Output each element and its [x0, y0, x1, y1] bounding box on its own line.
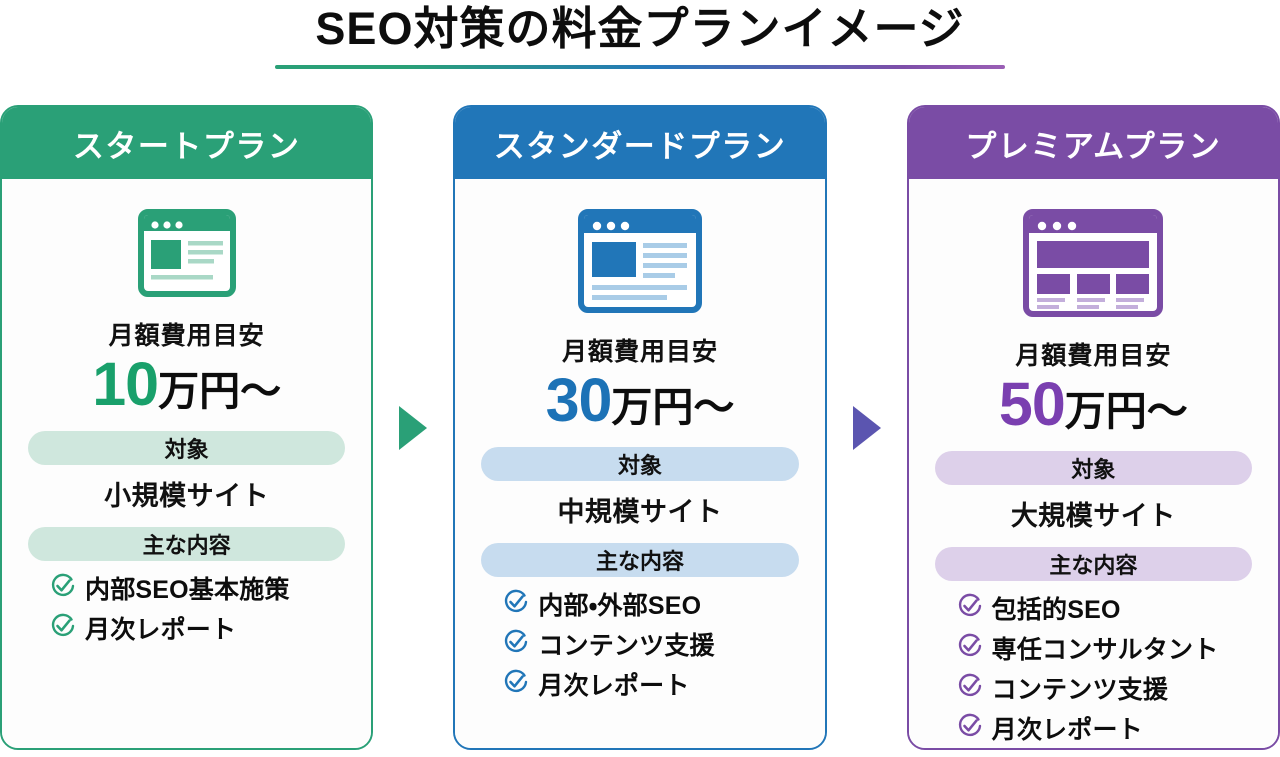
feature-label: 内部・外部SEO [538, 586, 701, 622]
price-unit-standard: 万円〜 [611, 387, 734, 428]
target-pill-standard: 対象 [481, 447, 798, 481]
check-circle-icon [503, 589, 529, 620]
check-circle-icon [957, 633, 983, 664]
list-item: 包括的SEO [957, 590, 1121, 626]
list-item: コンテンツ支援 [957, 670, 1168, 706]
target-value-standard: 中規模サイト [557, 490, 722, 529]
target-pill-premium: 対象 [935, 451, 1252, 485]
price-number-premium: 50 [999, 374, 1065, 435]
feature-list-start: 内部SEO基本施策 月次レポート [28, 570, 345, 650]
plan-header-premium: プレミアムプラン [909, 107, 1278, 179]
check-circle-icon [503, 629, 529, 660]
feature-list-premium: 包括的SEO 専任コンサルタント [935, 590, 1252, 750]
browser-window-article-icon [578, 209, 702, 318]
check-circle-icon [957, 593, 983, 624]
price-unit-premium: 万円〜 [1065, 391, 1188, 432]
price-line-premium: 50 万円〜 [999, 374, 1188, 435]
feature-label: 専任コンサルタント [992, 630, 1219, 666]
check-circle-icon [957, 673, 983, 704]
title-underline-gradient [275, 65, 1005, 69]
page-title: SEO対策の料金プランイメージ [0, 2, 1280, 55]
plan-header-standard: スタンダードプラン [455, 107, 824, 179]
check-circle-icon [50, 573, 76, 604]
browser-window-simple-icon [138, 209, 236, 302]
plan-header-start: スタートプラン [2, 107, 371, 179]
list-item: 専任コンサルタント [957, 630, 1219, 666]
plan-body-premium: 月額費用目安 50 万円〜 対象 大規模サイト 主な内容 包括的SEO [909, 179, 1278, 750]
list-item: 内部SEO基本施策 [50, 570, 290, 606]
price-label-standard: 月額費用目安 [562, 332, 718, 368]
feature-label: 包括的SEO [992, 590, 1121, 626]
price-line-start: 10 万円〜 [92, 354, 281, 415]
arrow-start-to-standard-icon [399, 406, 427, 450]
price-number-standard: 30 [546, 370, 612, 431]
list-item: 月次レポート [50, 610, 236, 646]
list-item: コンテンツ支援 [503, 626, 714, 662]
plan-body-start: 月額費用目安 10 万円〜 対象 小規模サイト 主な内容 内部SEO基本施策 [2, 179, 371, 748]
content-pill-standard: 主な内容 [481, 543, 798, 577]
plan-body-standard: 月額費用目安 30 万円〜 対象 中規模サイト 主な内容 内部・外部SEO [455, 179, 824, 748]
feature-label: コンテンツ支援 [992, 670, 1168, 706]
feature-label: コンテンツ支援 [538, 626, 714, 662]
check-circle-icon [50, 613, 76, 644]
plan-card-premium[interactable]: プレミアムプラン [907, 105, 1280, 750]
price-unit-start: 万円〜 [158, 371, 281, 412]
arrow-gap-2 [827, 105, 907, 750]
feature-label: 月次レポート [85, 610, 236, 646]
target-pill-start: 対象 [28, 431, 345, 465]
feature-label: 内部SEO基本施策 [85, 570, 290, 606]
price-number-start: 10 [92, 354, 158, 415]
price-label-premium: 月額費用目安 [1015, 336, 1171, 372]
list-item: 月次レポート [957, 710, 1143, 746]
feature-list-standard: 内部・外部SEO コンテンツ支援 [481, 586, 798, 706]
target-value-premium: 大規模サイト [1011, 494, 1176, 533]
title-section: SEO対策の料金プランイメージ [0, 0, 1280, 69]
content-pill-premium: 主な内容 [935, 547, 1252, 581]
arrow-standard-to-premium-icon [853, 406, 881, 450]
check-circle-icon [957, 713, 983, 744]
plan-cards-row: スタートプラン 月額費用目安 10 万円〜 [0, 105, 1280, 755]
content-pill-start: 主な内容 [28, 527, 345, 561]
arrow-gap-1 [373, 105, 453, 750]
check-circle-icon [503, 669, 529, 700]
feature-label: 月次レポート [538, 666, 689, 702]
target-value-start: 小規模サイト [104, 474, 269, 513]
price-line-standard: 30 万円〜 [546, 370, 735, 431]
plan-card-standard[interactable]: スタンダードプラン 月額費用目安 [453, 105, 826, 750]
list-item: 内部・外部SEO [503, 586, 701, 622]
feature-label: 月次レポート [992, 710, 1143, 746]
price-label-start: 月額費用目安 [109, 316, 265, 352]
plan-card-start[interactable]: スタートプラン 月額費用目安 10 万円〜 [0, 105, 373, 750]
browser-window-grid-icon [1023, 209, 1163, 322]
list-item: 月次レポート [503, 666, 689, 702]
